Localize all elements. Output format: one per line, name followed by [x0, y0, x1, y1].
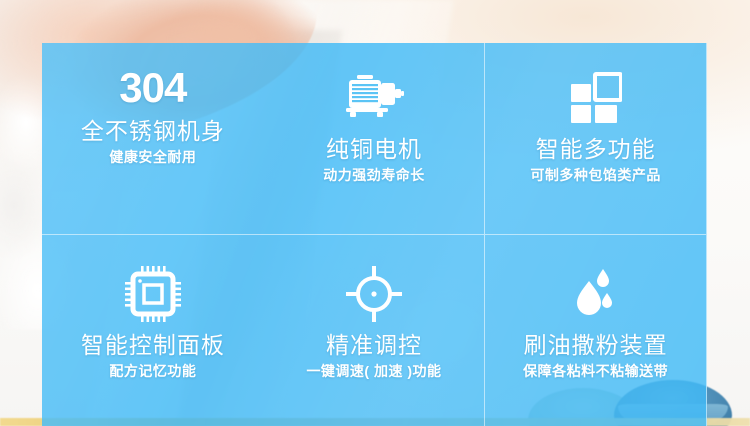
feature-subtitle: 可制多种包馅类产品: [530, 167, 661, 184]
feature-cell-motor: 纯铜电机 动力强劲寿命长: [264, 43, 486, 235]
feature-subtitle: 动力强劲寿命长: [323, 167, 425, 184]
feature-cell-multifunction: 智能多功能 可制多种包馅类产品: [485, 43, 707, 235]
feature-subtitle: 保障各粘料不粘输送带: [523, 363, 668, 380]
material-grade-badge: 304: [119, 67, 186, 109]
feature-subtitle: 配方记忆功能: [109, 363, 196, 380]
feature-cell-precision: 精准调控 一键调速( 加速 )功能: [264, 235, 486, 426]
features-panel: 304 全不锈钢机身 健康安全耐用: [42, 43, 707, 426]
water-droplets-icon: [569, 263, 623, 325]
feature-title: 智能控制面板: [81, 333, 225, 358]
feature-title: 刷油撒粉装置: [524, 333, 668, 358]
feature-title: 智能多功能: [536, 137, 656, 162]
feature-cell-oil-flour: 刷油撒粉装置 保障各粘料不粘输送带: [485, 235, 707, 426]
feature-subtitle: 健康安全耐用: [109, 149, 196, 166]
electric-motor-icon: [343, 67, 405, 129]
cpu-chip-icon: [125, 263, 181, 325]
feature-cell-control-panel: 智能控制面板 配方记忆功能: [42, 235, 264, 426]
crosshair-target-icon: [346, 263, 402, 325]
feature-subtitle: 一键调速( 加速 )功能: [306, 363, 441, 380]
feature-cell-stainless: 304 全不锈钢机身 健康安全耐用: [42, 43, 264, 235]
feature-title: 精准调控: [326, 333, 422, 358]
feature-grid-banner: 304 全不锈钢机身 健康安全耐用: [0, 0, 750, 426]
feature-title: 纯铜电机: [326, 137, 422, 162]
feature-title: 全不锈钢机身: [81, 119, 225, 144]
squares-grid-icon: [570, 67, 622, 129]
